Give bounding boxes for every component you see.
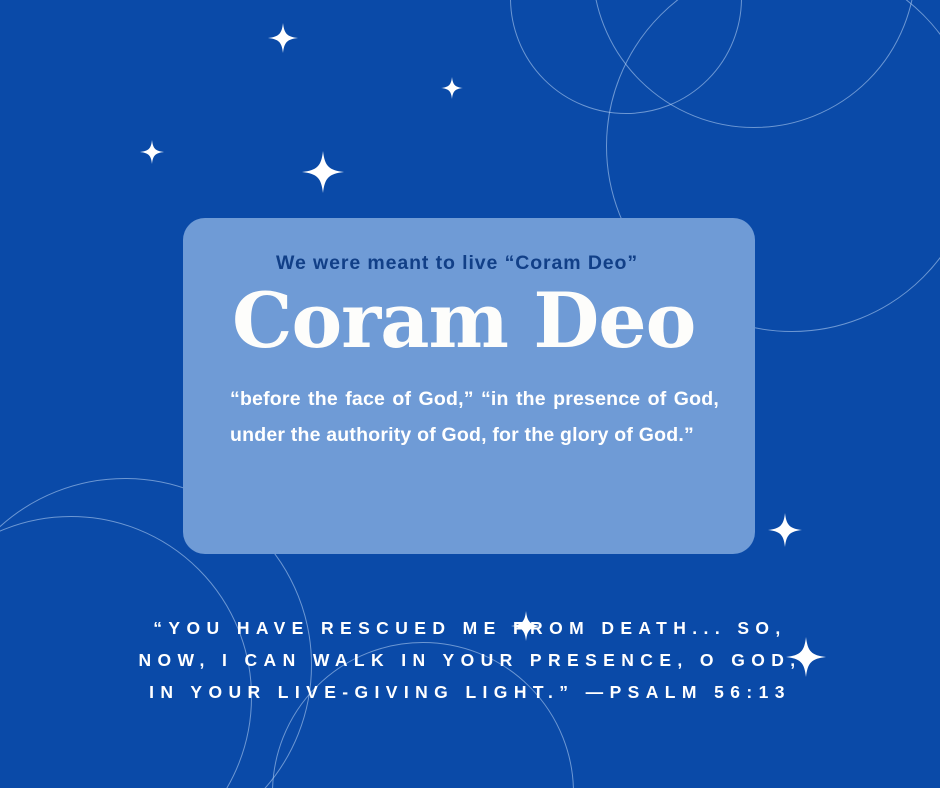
page-title: Coram Deo (230, 283, 709, 359)
scripture-quote: “YOU HAVE RESCUED ME FROM DEATH... SO, N… (0, 612, 940, 708)
sparkle-star-2-icon (441, 77, 463, 99)
decorative-circle-bottom-left-arc-2 (0, 516, 252, 788)
decorative-circle-bottom-mid-arc (272, 642, 574, 788)
sparkle-star-6-icon (511, 611, 541, 641)
card-definition-text: “before the face of God,” “in the presen… (230, 381, 719, 453)
scripture-line-3: IN YOUR LIVE-GIVING LIGHT.” —PSALM 56:13 (0, 676, 940, 708)
decorative-circle-top-left-arc (510, 0, 742, 114)
sparkle-star-3-icon (302, 151, 344, 193)
sparkle-star-4-icon (140, 140, 164, 164)
sparkle-star-1-icon (268, 23, 298, 53)
sparkle-star-5-icon (768, 513, 802, 547)
decorative-circle-top-mid-arc (592, 0, 916, 128)
sparkle-star-7-icon (786, 637, 826, 677)
card-kicker-text: We were meant to live “Coram Deo” (230, 252, 709, 275)
scripture-line-2: NOW, I CAN WALK IN YOUR PRESENCE, O GOD, (0, 644, 940, 676)
poster-canvas: We were meant to live “Coram Deo” Coram … (0, 0, 940, 788)
scripture-line-1: “YOU HAVE RESCUED ME FROM DEATH... SO, (0, 612, 940, 644)
quote-card: We were meant to live “Coram Deo” Coram … (183, 218, 755, 554)
